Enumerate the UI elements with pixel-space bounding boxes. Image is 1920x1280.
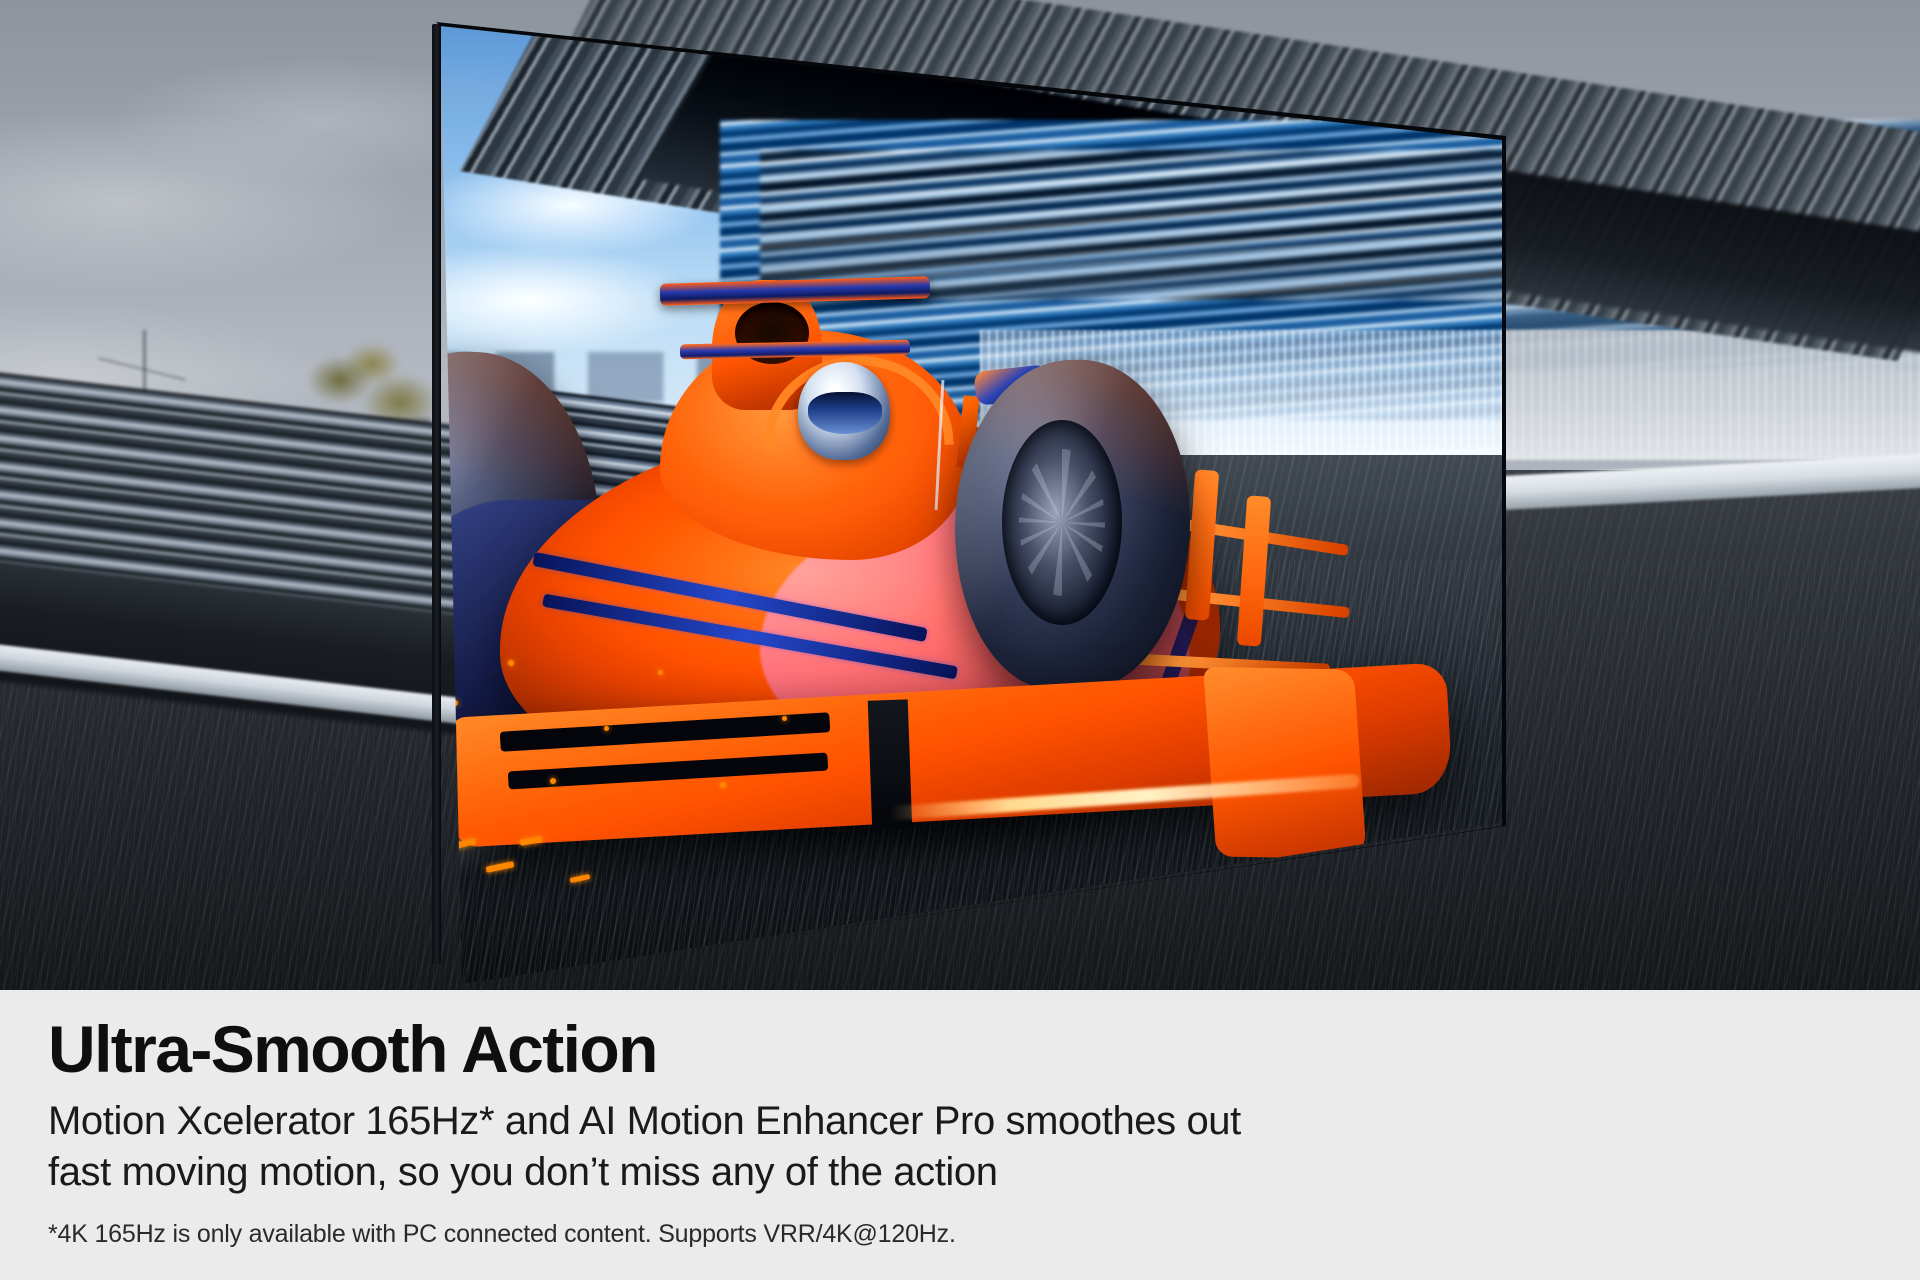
caption-body-line-2: fast moving motion, so you don’t miss an…: [48, 1147, 1920, 1198]
spark: [550, 778, 556, 784]
spark: [486, 861, 515, 873]
caption-footnote: *4K 165Hz is only available with PC conn…: [48, 1220, 1920, 1249]
rear-wing-upper: [660, 276, 931, 306]
helmet-visor: [808, 392, 882, 434]
rim-spokes: [1019, 449, 1105, 597]
caption-body: Motion Xcelerator 165Hz* and AI Motion E…: [48, 1096, 1920, 1198]
spark: [720, 782, 726, 788]
spark: [782, 716, 787, 721]
tv-panel-side-edge: [432, 24, 441, 964]
race-car: [436, 270, 1506, 920]
feature-banner: Ultra-Smooth Action Motion Xcelerator 16…: [0, 0, 1920, 1280]
caption-body-line-1: Motion Xcelerator 165Hz* and AI Motion E…: [48, 1096, 1920, 1147]
spark: [570, 874, 591, 883]
screen-content: [436, 22, 1506, 987]
page-title: Ultra-Smooth Action: [48, 1016, 1920, 1082]
sparks-group: [436, 520, 810, 920]
hero-image: [0, 0, 1920, 990]
spark: [604, 726, 609, 731]
tv-screen-panel: [436, 22, 1506, 987]
wheel-rim: [1002, 420, 1122, 625]
caption-block: Ultra-Smooth Action Motion Xcelerator 16…: [0, 990, 1920, 1280]
spark: [658, 670, 663, 675]
front-wing-endplate: [1203, 667, 1367, 859]
spark: [508, 660, 514, 666]
bargeboard-2: [1237, 495, 1271, 646]
spark: [520, 836, 543, 846]
